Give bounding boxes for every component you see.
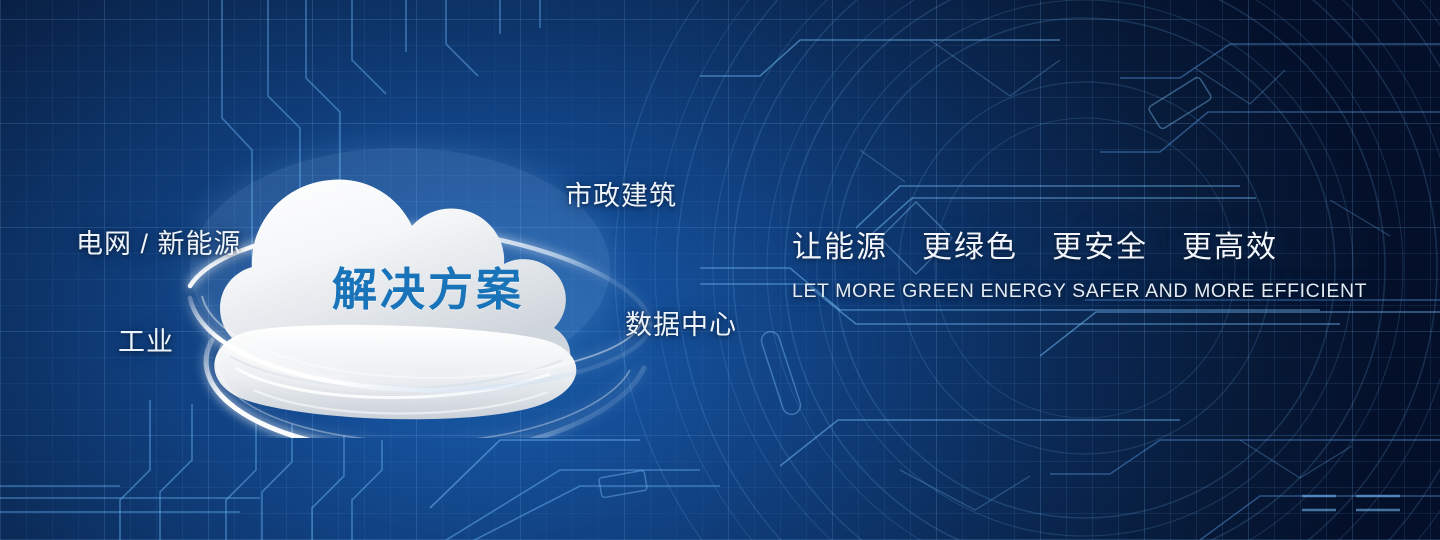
label-data-center: 数据中心 [625,303,737,342]
label-grid-new-energy: 电网 / 新能源 [76,222,242,261]
label-industry: 工业 [118,320,174,359]
tagline-chinese: 让能源 更绿色 更安全 更高效 [792,222,1332,266]
solution-banner: 解决方案 电网 / 新能源 工业 市政建筑 数据中心 让能源 更绿色 更安全 更… [0,0,1440,540]
cloud-title: 解决方案 [332,253,524,318]
tagline-english: LET MORE GREEN ENERGY SAFER AND MORE EFF… [792,280,1332,303]
tagline-block: 让能源 更绿色 更安全 更高效 LET MORE GREEN ENERGY SA… [792,222,1332,303]
tagline-part-4: 更高效 [1182,222,1278,266]
tagline-part-2: 更绿色 [922,222,1018,266]
label-municipal: 市政建筑 [565,174,677,213]
tagline-part-1: 让能源 [792,222,888,266]
tagline-part-3: 更安全 [1052,222,1148,266]
